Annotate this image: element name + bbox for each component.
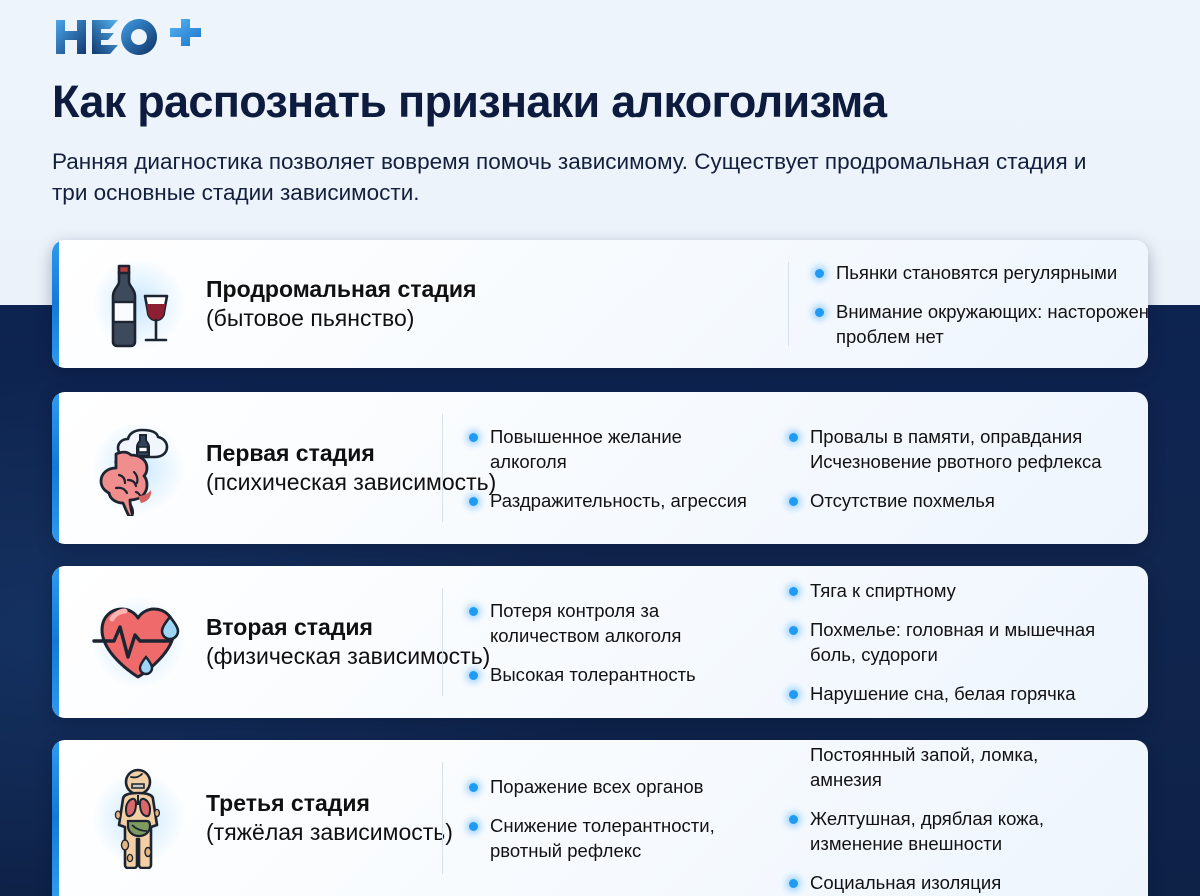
list-item: Снижение толерантности, рвотный рефлекс [469, 813, 749, 863]
list-item: Желтушная, дряблая кожа, изменение внешн… [789, 806, 1109, 856]
stage-title-bold: Третья стадия [206, 789, 453, 818]
bullet-column: Тяга к спиртному Похмелье: головная и мы… [763, 578, 1123, 706]
human-body-organs-icon [86, 766, 190, 870]
brain-with-thought-bubble-icon [86, 416, 190, 520]
heo-plus-logo-icon [52, 16, 202, 58]
list-item: Отсутствие похмелья [789, 488, 1109, 513]
list-item: Поражение всех органов [469, 774, 749, 799]
stage-card-prodromal[interactable]: Продромальная стадия (бытовое пьянство) … [52, 240, 1148, 368]
page-subtitle: Ранняя диагностика позволяет вовремя пом… [52, 146, 1112, 208]
list-item: Потеря контроля за количеством алкоголя [469, 598, 749, 648]
infographic-page: Как распознать признаки алкоголизма Ранн… [0, 0, 1200, 896]
card-columns: Поражение всех органов Снижение толерант… [443, 740, 1148, 896]
stage-title-sub: (бытовое пьянство) [206, 304, 476, 333]
list-item: Социальная изоляция [789, 870, 1109, 895]
card-header: Продромальная стадия (бытовое пьянство) [52, 240, 600, 368]
stage-title: Продромальная стадия (бытовое пьянство) [206, 275, 476, 333]
card-header: Первая стадия (психическая зависимость) [52, 392, 442, 544]
bullet-column: Поражение всех органов Снижение толерант… [443, 774, 763, 863]
stage-title-bold: Продромальная стадия [206, 275, 476, 304]
list-item: Раздражительность, агрессия [469, 488, 749, 513]
stage-card-second[interactable]: Вторая стадия (физическая зависимость) П… [52, 566, 1148, 718]
card-header: Вторая стадия (физическая зависимость) [52, 566, 442, 718]
list-item: Пьянки становятся регулярными [815, 260, 1148, 285]
list-item: Внимание окружающих: настороженность, но… [815, 299, 1148, 349]
page-title: Как распознать признаки алкоголизма [52, 74, 1162, 130]
stage-card-third[interactable]: Третья стадия (тяжёлая зависимость) Пора… [52, 740, 1148, 896]
list-item: Нарушение сна, белая горячка [789, 681, 1109, 706]
bullet-column: Пьянки становятся регулярными Внимание о… [789, 260, 1148, 349]
card-columns: Потеря контроля за количеством алкоголя … [443, 566, 1148, 718]
card-columns: Повышенное желание алкоголя Раздражитель… [443, 392, 1148, 544]
heart-with-pulse-icon [86, 590, 190, 694]
stage-title: Третья стадия (тяжёлая зависимость) [206, 789, 453, 847]
stage-card-first[interactable]: Первая стадия (психическая зависимость) … [52, 392, 1148, 544]
bullet-column: Потеря контроля за количеством алкоголя … [443, 598, 763, 687]
bullet-column: Постоянный запой, ломка, амнезия Желтушн… [763, 742, 1123, 895]
list-item: Похмелье: головная и мышечная боль, судо… [789, 617, 1109, 667]
list-item: Повышенное желание алкоголя [469, 424, 749, 474]
card-columns: Пьянки становятся регулярными Внимание о… [789, 240, 1148, 368]
bullet-column: Провалы в памяти, оправдания Исчезновени… [763, 424, 1123, 513]
brand-logo [52, 16, 202, 58]
list-item: Тяга к спиртному [789, 578, 1109, 603]
bullet-column: Повышенное желание алкоголя Раздражитель… [443, 424, 763, 513]
list-item: Постоянный запой, ломка, амнезия [789, 742, 1109, 792]
list-item: Провалы в памяти, оправдания Исчезновени… [789, 424, 1109, 474]
wine-bottle-and-glass-icon [86, 252, 190, 356]
list-item: Высокая толерантность [469, 662, 749, 687]
stage-title-sub: (тяжёлая зависимость) [206, 818, 453, 847]
card-header: Третья стадия (тяжёлая зависимость) [52, 740, 442, 896]
